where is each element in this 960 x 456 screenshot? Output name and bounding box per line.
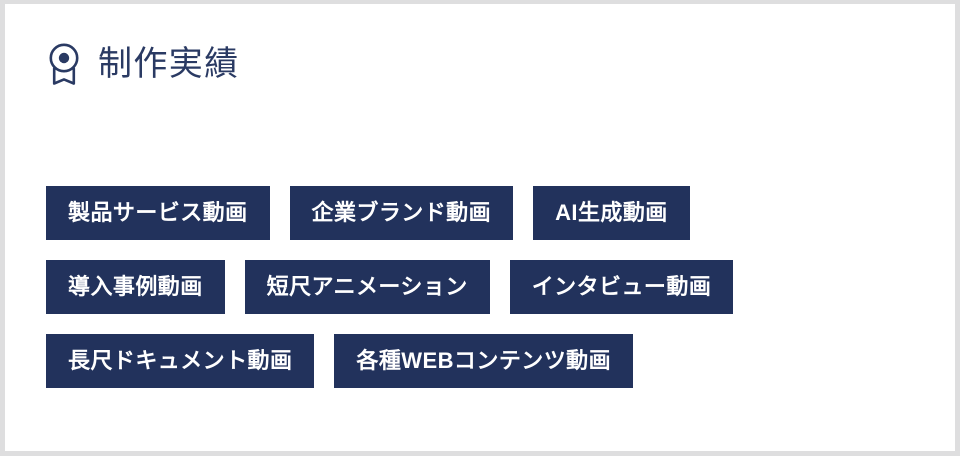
tag-ai-generated-video[interactable]: AI生成動画 bbox=[533, 186, 690, 240]
content-card: 制作実績 製品サービス動画 企業ブランド動画 AI生成動画 導入事例動画 短尺ア… bbox=[5, 4, 955, 451]
tag-corporate-brand-video[interactable]: 企業ブランド動画 bbox=[290, 186, 514, 240]
tag-web-content-video[interactable]: 各種WEBコンテンツ動画 bbox=[334, 334, 633, 388]
tag-product-service-video[interactable]: 製品サービス動画 bbox=[46, 186, 270, 240]
tag-list: 製品サービス動画 企業ブランド動画 AI生成動画 導入事例動画 短尺アニメーショ… bbox=[46, 186, 935, 388]
tag-short-animation[interactable]: 短尺アニメーション bbox=[245, 260, 490, 314]
tag-row: 導入事例動画 短尺アニメーション インタビュー動画 bbox=[46, 260, 935, 314]
medal-award-icon bbox=[46, 42, 82, 86]
tag-long-form-document-video[interactable]: 長尺ドキュメント動画 bbox=[46, 334, 314, 388]
tag-row: 長尺ドキュメント動画 各種WEBコンテンツ動画 bbox=[46, 334, 935, 388]
tag-interview-video[interactable]: インタビュー動画 bbox=[510, 260, 734, 314]
page-title: 制作実績 bbox=[98, 47, 239, 81]
tag-case-study-video[interactable]: 導入事例動画 bbox=[46, 260, 225, 314]
section-header: 制作実績 bbox=[46, 42, 239, 86]
tag-row: 製品サービス動画 企業ブランド動画 AI生成動画 bbox=[46, 186, 935, 240]
